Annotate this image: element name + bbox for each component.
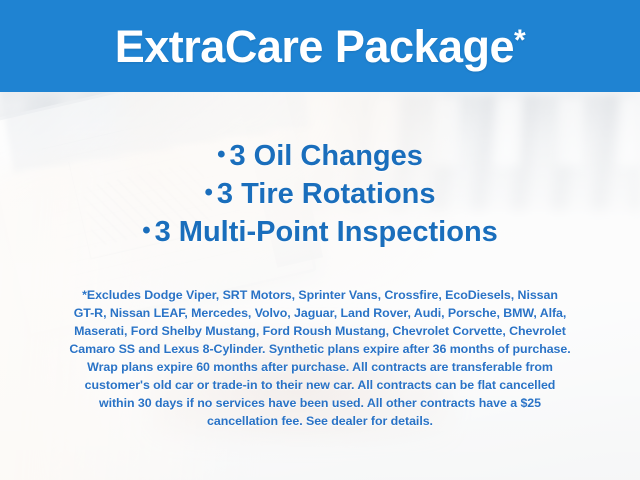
disclaimer-text: *Excludes Dodge Viper, SRT Motors, Sprin… — [28, 286, 612, 430]
benefit-item-label: 3 Tire Rotations — [217, 178, 436, 210]
bullet-dot-icon: • — [142, 217, 150, 244]
benefit-item-tire-rotations: •3 Tire Rotations — [0, 176, 640, 214]
page-title: ExtraCare Package* — [115, 24, 525, 69]
disclaimer-line: within 30 days if no services have been … — [28, 394, 612, 412]
benefit-item-label: 3 Multi-Point Inspections — [155, 216, 498, 248]
page-title-text: ExtraCare Package — [115, 21, 514, 72]
header-banner: ExtraCare Package* — [0, 0, 640, 92]
benefit-item-multi-point-inspections: •3 Multi-Point Inspections — [0, 214, 640, 252]
benefit-item-label: 3 Oil Changes — [230, 140, 423, 172]
extracare-package-promo-card: ExtraCare Package* •3 Oil Changes •3 Tir… — [0, 0, 640, 480]
bullet-dot-icon: • — [217, 141, 225, 168]
disclaimer-line: Maserati, Ford Shelby Mustang, Ford Rous… — [28, 322, 612, 340]
bullet-dot-icon: • — [204, 179, 212, 206]
page-title-asterisk: * — [514, 24, 525, 57]
disclaimer-line: Camaro SS and Lexus 8-Cylinder. Syntheti… — [28, 340, 612, 358]
disclaimer-line: GT-R, Nissan LEAF, Mercedes, Volvo, Jagu… — [28, 304, 612, 322]
disclaimer-line: *Excludes Dodge Viper, SRT Motors, Sprin… — [28, 286, 612, 304]
benefits-list: •3 Oil Changes •3 Tire Rotations •3 Mult… — [0, 138, 640, 252]
disclaimer-line: cancellation fee. See dealer for details… — [28, 412, 612, 430]
disclaimer-line: customer's old car or trade-in to their … — [28, 376, 612, 394]
disclaimer-line: Wrap plans expire 60 months after purcha… — [28, 358, 612, 376]
benefit-item-oil-changes: •3 Oil Changes — [0, 138, 640, 176]
